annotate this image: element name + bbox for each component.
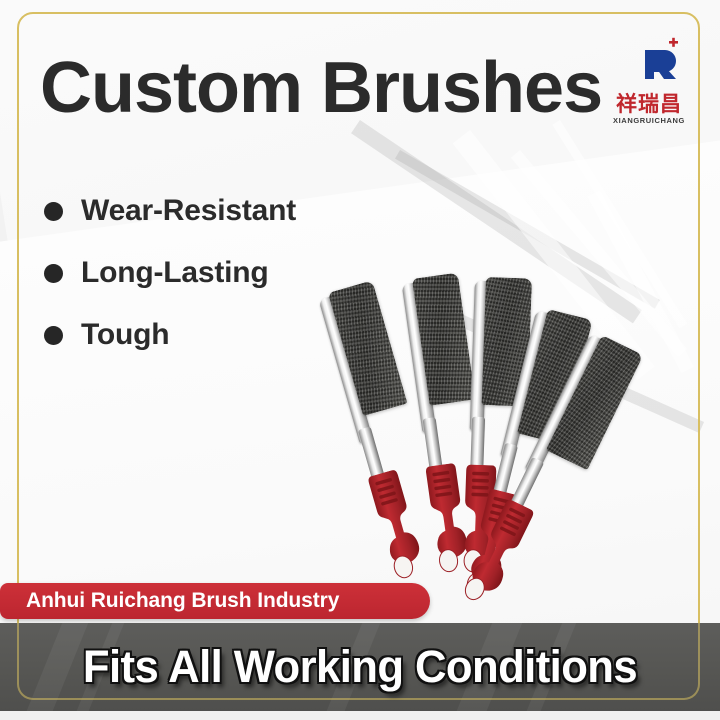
logo-mark bbox=[600, 36, 698, 92]
feature-list: Wear-Resistant Long-Lasting Tough bbox=[44, 180, 296, 366]
logo-chinese-name: 祥瑞昌 bbox=[600, 93, 698, 115]
company-logo: 祥瑞昌 XIANGRUICHANG bbox=[600, 36, 698, 132]
logo-pinyin: XIANGRUICHANG bbox=[600, 116, 698, 125]
feature-label: Tough bbox=[81, 318, 169, 352]
page-title: Custom Brushes bbox=[40, 52, 602, 124]
footer-bar: Fits All Working Conditions bbox=[0, 623, 720, 711]
bottom-edge-strip bbox=[0, 711, 720, 720]
company-name-banner: Anhui Ruichang Brush Industry bbox=[0, 583, 430, 619]
feature-label: Long-Lasting bbox=[81, 256, 269, 290]
feature-label: Wear-Resistant bbox=[81, 194, 296, 228]
logo-cr-icon bbox=[601, 36, 697, 92]
brush-handle bbox=[361, 468, 430, 587]
feature-item-long-lasting: Long-Lasting bbox=[44, 242, 296, 304]
product-image-wire-brush-set bbox=[290, 285, 710, 585]
feature-item-wear-resistant: Wear-Resistant bbox=[44, 180, 296, 242]
bullet-dot-icon bbox=[44, 202, 63, 221]
bullet-dot-icon bbox=[44, 264, 63, 283]
footer-tagline: Fits All Working Conditions bbox=[11, 623, 709, 711]
poster-canvas: Custom Brushes 祥瑞昌 XIANGRUICHANG bbox=[0, 0, 720, 720]
bullet-dot-icon bbox=[44, 326, 63, 345]
company-name-label: Anhui Ruichang Brush Industry bbox=[26, 589, 339, 613]
logo-cross-icon bbox=[669, 38, 678, 47]
feature-item-tough: Tough bbox=[44, 304, 296, 366]
